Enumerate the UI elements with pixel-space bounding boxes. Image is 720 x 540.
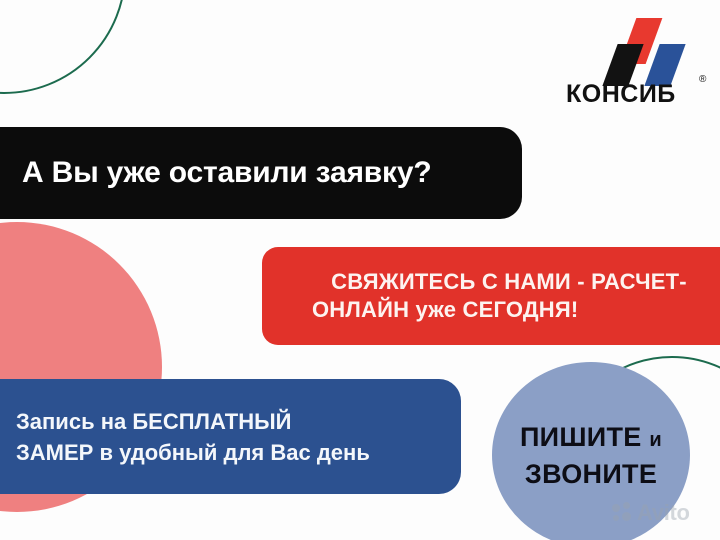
callout-line-1: ПИШИТЕ и (520, 420, 662, 457)
question-banner: А Вы уже оставили заявку? (0, 127, 522, 219)
contact-banner-line-2: ОНЛАЙН уже СЕГОДНЯ! (284, 296, 720, 324)
question-banner-text: А Вы уже оставили заявку? (22, 156, 492, 190)
callout-line-1-part-a: ПИШИТЕ (520, 422, 649, 452)
avito-watermark-label: Avito (637, 500, 690, 526)
measurement-banner: Запись на БЕСПЛАТНЫЙ ЗАМЕР в удобный для… (0, 379, 461, 494)
brand-logo: КОНСИБ ® (566, 18, 710, 104)
contact-banner-line-1: СВЯЖИТЕСЬ С НАМИ - РАСЧЕТ- (284, 268, 720, 296)
callout-line-2: ЗВОНИТЕ (525, 457, 657, 491)
callout-line-1-part-b: и (649, 429, 662, 451)
contact-banner: СВЯЖИТЕСЬ С НАМИ - РАСЧЕТ- ОНЛАЙН уже СЕ… (262, 247, 720, 345)
measurement-banner-line-2: ЗАМЕР в удобный для Вас день (16, 437, 441, 468)
registered-trademark-icon: ® (699, 74, 706, 85)
measurement-banner-line-1: Запись на БЕСПЛАТНЫЙ (16, 406, 441, 437)
avito-dots-icon (612, 502, 634, 524)
contact-banner-line-2-part-a: ОНЛАЙН (312, 297, 416, 322)
decorative-ring-top-left-icon (0, 0, 126, 94)
logo-mark-icon (566, 18, 710, 70)
contact-banner-line-2-part-b: уже (416, 297, 463, 322)
brand-name: КОНСИБ (566, 80, 710, 109)
contact-banner-line-2-part-c: СЕГОДНЯ! (463, 297, 579, 322)
advertisement-canvas: КОНСИБ ® А Вы уже оставили заявку? СВЯЖИ… (0, 0, 720, 540)
avito-watermark: Avito (612, 500, 690, 526)
